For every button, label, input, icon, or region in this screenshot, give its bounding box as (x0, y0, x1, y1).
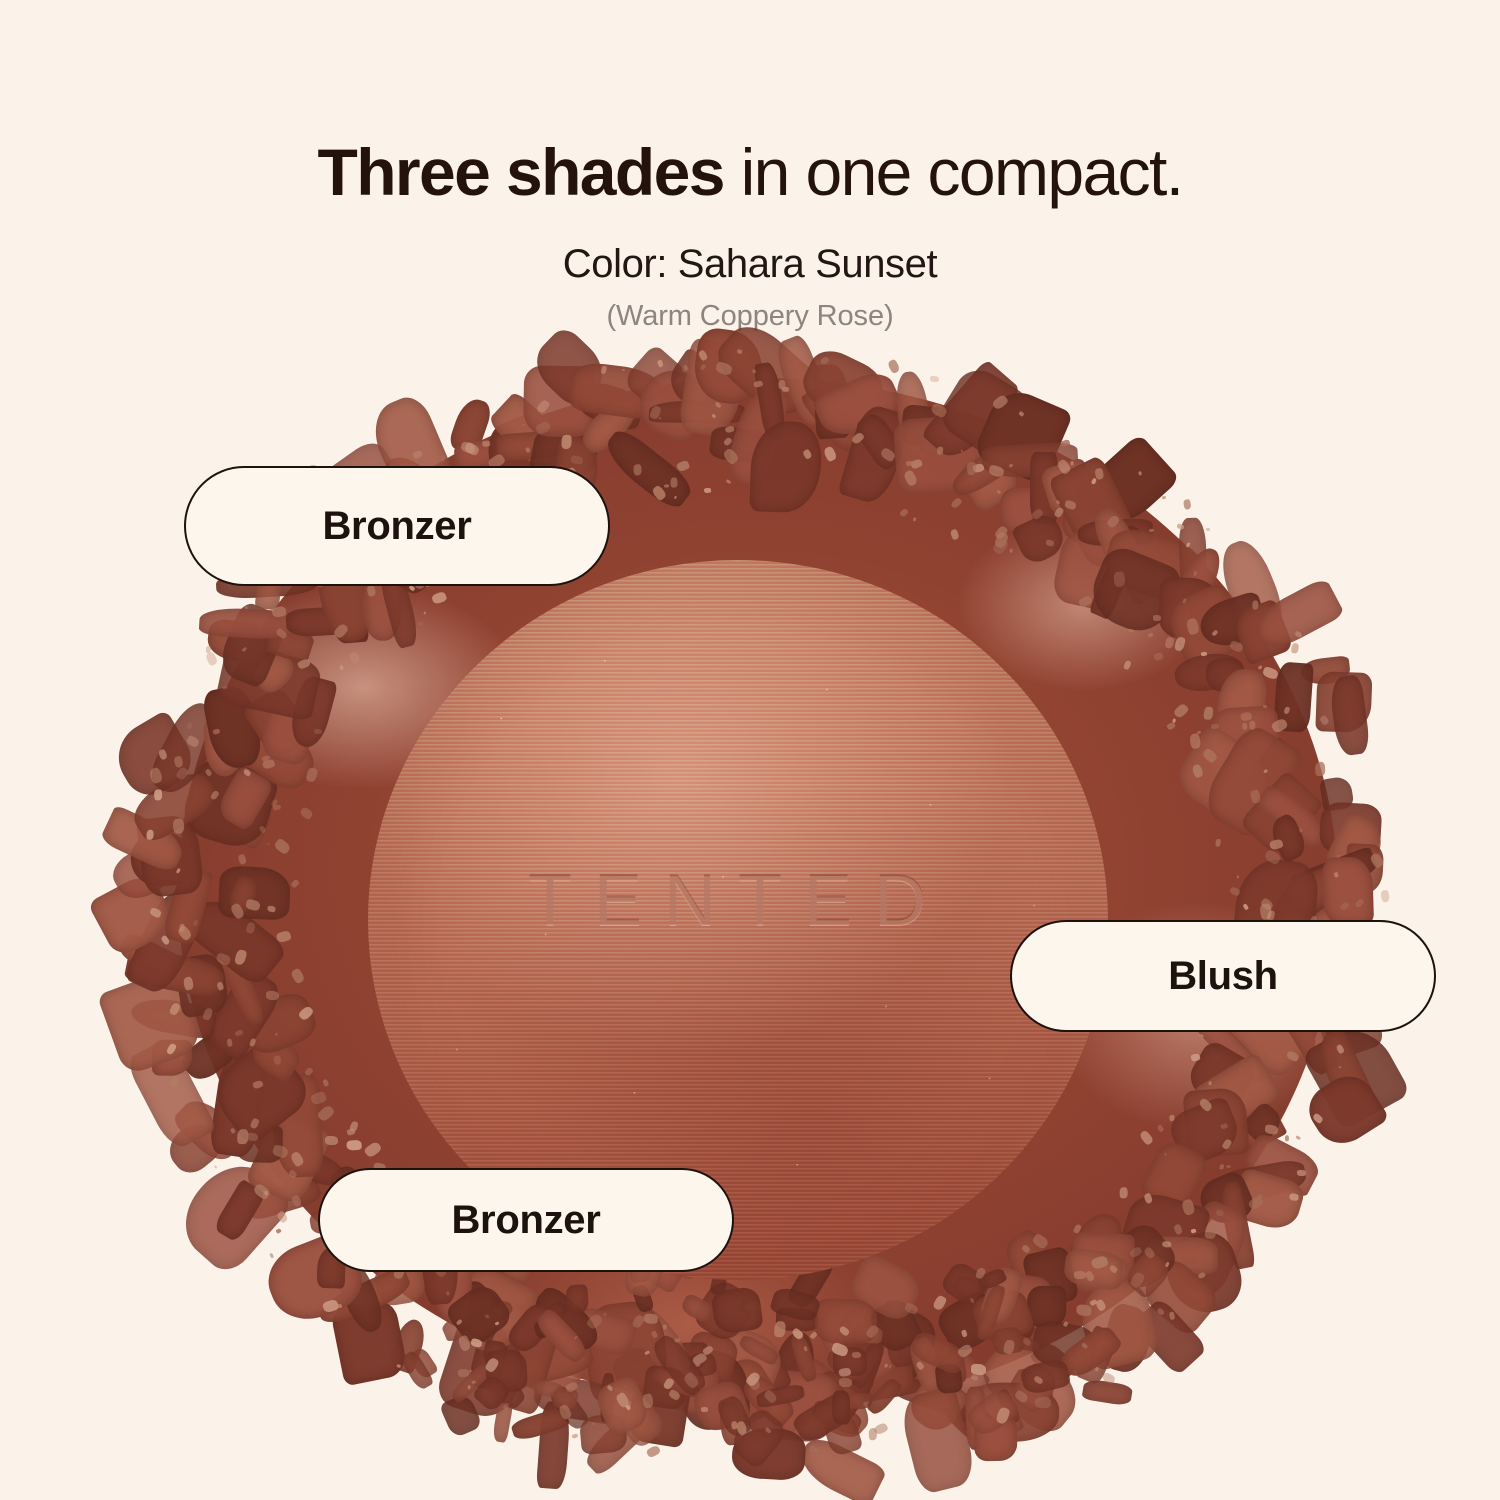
powder-debris (832, 1391, 850, 1425)
powder-shimmer-fleck (1120, 1187, 1128, 1198)
page-title: Three shades in one compact. (0, 138, 1500, 207)
powder-shimmer-fleck (839, 1378, 852, 1387)
powder-shimmer-fleck (458, 1369, 469, 1378)
powder-shimmer-fleck (1070, 461, 1073, 465)
powder-shimmer-fleck (782, 387, 789, 392)
powder-shimmer-fleck (1315, 762, 1326, 777)
powder-shimmer-fleck (1176, 523, 1184, 529)
label-pill-text: Blush (1168, 954, 1278, 999)
powder-shard (1322, 856, 1374, 926)
powder-shimmer-fleck (347, 1139, 362, 1150)
powder-shimmer-fleck (1285, 1135, 1290, 1141)
brand-emboss-logo: TENTED (368, 860, 1108, 942)
powder-shimmer-fleck (1009, 549, 1012, 554)
powder-shimmer-fleck (966, 462, 976, 475)
powder-shimmer-fleck (1291, 643, 1299, 654)
powder-shimmer-fleck (1153, 615, 1162, 621)
powder-shimmer-fleck (441, 455, 445, 461)
powder-shimmer-fleck (1162, 1241, 1171, 1247)
page-title-emphasis: Three shades (318, 135, 724, 209)
powder-shimmer-fleck (337, 1303, 343, 1307)
powder-shimmer-fleck (1035, 1396, 1052, 1408)
powder-shimmer-fleck (937, 447, 943, 455)
powder-shimmer-fleck (1299, 828, 1303, 832)
label-pill-bronzer-bottom[interactable]: Bronzer (318, 1168, 734, 1272)
powder-shimmer-fleck (1204, 1223, 1216, 1239)
powder-shimmer-fleck (887, 359, 901, 375)
powder-shimmer-fleck (1289, 1194, 1299, 1201)
label-pill-bronzer-top[interactable]: Bronzer (184, 466, 610, 586)
powder-shimmer-fleck (1182, 499, 1191, 510)
powder-shimmer-fleck (154, 790, 162, 801)
powder-shimmer-fleck (670, 477, 678, 487)
powder-shimmer-fleck (562, 435, 572, 449)
powder-shimmer-fleck (214, 1165, 218, 1169)
powder-shimmer-fleck (572, 1433, 579, 1439)
powder-shimmer-fleck (644, 1314, 658, 1324)
product-callout-graphic: Three shades in one compact. Color: Saha… (0, 0, 1500, 1500)
label-pill-text: Bronzer (322, 504, 471, 549)
powder-shimmer-fleck (906, 461, 913, 466)
powder-shimmer-fleck (314, 729, 322, 734)
powder-shimmer-fleck (269, 1253, 274, 1259)
powder-shimmer-fleck (701, 1407, 708, 1412)
powder-debris (566, 1284, 590, 1314)
powder-shimmer-fleck (929, 375, 938, 382)
powder-shimmer-fleck (1380, 890, 1390, 903)
powder-shimmer-fleck (1206, 528, 1210, 531)
powder-shimmer-fleck (694, 1359, 700, 1367)
powder-shimmer-fleck (1161, 495, 1166, 499)
powder-shimmer-fleck (1265, 1124, 1279, 1135)
page-title-rest: in one compact. (724, 135, 1183, 209)
powder-shimmer-fleck (397, 1365, 401, 1368)
label-pill-text: Bronzer (451, 1198, 600, 1243)
powder-shimmer-fleck (146, 829, 153, 839)
powder-shimmer-fleck (1075, 1304, 1091, 1316)
powder-shimmer-fleck (642, 1393, 654, 1409)
powder-shimmer-fleck (275, 1228, 281, 1234)
powder-shimmer-fleck (246, 1132, 258, 1141)
powder-shimmer-fleck (1295, 1135, 1301, 1140)
color-name: Color: Sahara Sunset (0, 242, 1500, 287)
label-pill-blush[interactable]: Blush (1010, 920, 1436, 1032)
powder-shimmer-fleck (266, 990, 280, 1000)
powder-shimmer-fleck (1297, 1170, 1306, 1176)
powder-shimmer-fleck (645, 1444, 661, 1458)
powder-shimmer-fleck (1338, 1065, 1342, 1068)
